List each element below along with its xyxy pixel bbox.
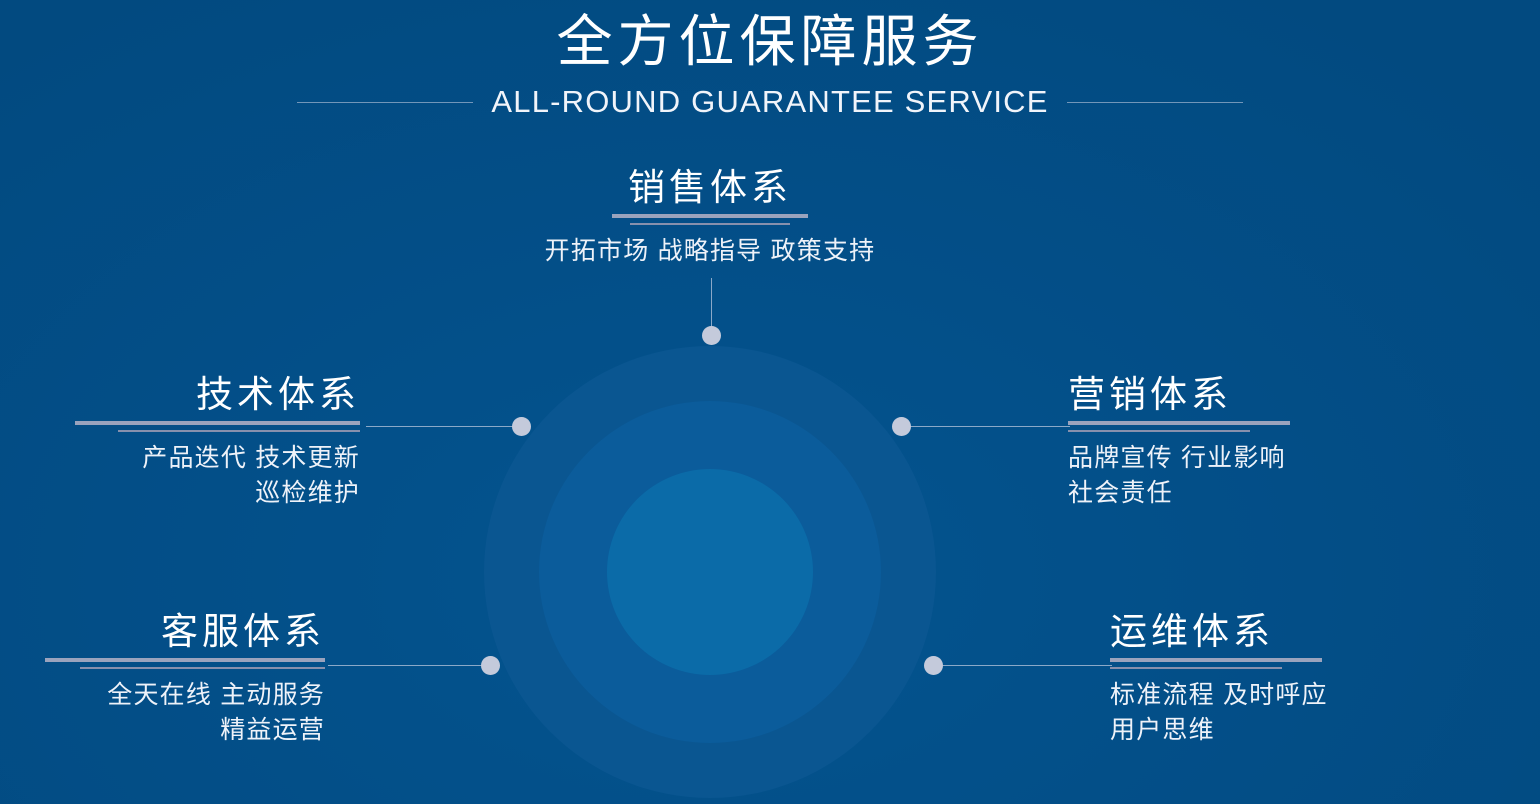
node-sales-rule-thick [612,214,808,218]
node-ops[interactable]: 运维体系 标准流程 及时呼应 用户思维 [1110,612,1510,749]
center-ring-middle [539,401,881,743]
node-tech-desc-line: 产品迭代 技术更新 [20,441,360,477]
node-ops-desc-line: 标准流程 及时呼应 [1110,678,1510,714]
connector-dot-tech [512,417,531,436]
node-ops-desc-line: 用户思维 [1110,713,1510,749]
connector-line-service [328,665,491,666]
node-service-desc-line: 全天在线 主动服务 [0,678,325,714]
node-service-rule-thick [45,658,325,662]
connector-line-market [910,426,1070,427]
connector-line-tech [366,426,522,427]
connector-dot-sales [702,326,721,345]
node-service-desc: 全天在线 主动服务 精益运营 [0,678,325,749]
node-ops-desc: 标准流程 及时呼应 用户思维 [1110,678,1510,749]
node-market-rule-thin [1068,430,1250,432]
node-service[interactable]: 客服体系 全天在线 主动服务 精益运营 [0,612,325,749]
node-tech-rule-thick [75,421,360,425]
node-ops-title: 运维体系 [1110,612,1510,653]
connector-dot-market [892,417,911,436]
header: 全方位保障服务 ALL-ROUND GUARANTEE SERVICE [0,8,1540,120]
center-ring-inner [607,469,813,675]
node-service-rule-thin [80,667,325,669]
node-service-desc-line: 精益运营 [0,713,325,749]
node-sales-desc: 开拓市场 战略指导 政策支持 [405,234,1015,270]
node-ops-rule-thin [1110,667,1282,669]
node-sales-rule-thin [630,223,790,225]
connector-dot-ops [924,656,943,675]
node-sales-title: 销售体系 [405,168,1015,209]
connector-dot-service [481,656,500,675]
node-tech[interactable]: 技术体系 产品迭代 技术更新 巡检维护 [20,375,360,512]
node-tech-desc: 产品迭代 技术更新 巡检维护 [20,441,360,512]
node-market-desc-line: 品牌宣传 行业影响 [1068,441,1468,477]
node-ops-rule-thick [1110,658,1322,662]
node-market-rule-thick [1068,421,1290,425]
node-service-title: 客服体系 [0,612,325,653]
subtitle-row: ALL-ROUND GUARANTEE SERVICE [0,84,1540,120]
guarantee-service-infographic: 全方位保障服务 ALL-ROUND GUARANTEE SERVICE 销售体系… [0,0,1540,804]
page-subtitle: ALL-ROUND GUARANTEE SERVICE [491,84,1048,120]
node-tech-title: 技术体系 [20,375,360,416]
node-market-desc-line: 社会责任 [1068,476,1468,512]
node-sales[interactable]: 销售体系 开拓市场 战略指导 政策支持 [405,168,1015,269]
node-market[interactable]: 营销体系 品牌宣传 行业影响 社会责任 [1068,375,1468,512]
node-market-title: 营销体系 [1068,375,1468,416]
page-title: 全方位保障服务 [0,8,1540,76]
center-ring-outer [484,346,936,798]
node-tech-rule-thin [118,430,360,432]
node-tech-desc-line: 巡检维护 [20,476,360,512]
node-sales-desc-line: 开拓市场 战略指导 政策支持 [405,234,1015,270]
subtitle-rule-right [1067,102,1243,103]
subtitle-rule-left [297,102,473,103]
node-market-desc: 品牌宣传 行业影响 社会责任 [1068,441,1468,512]
connector-line-ops [942,665,1112,666]
